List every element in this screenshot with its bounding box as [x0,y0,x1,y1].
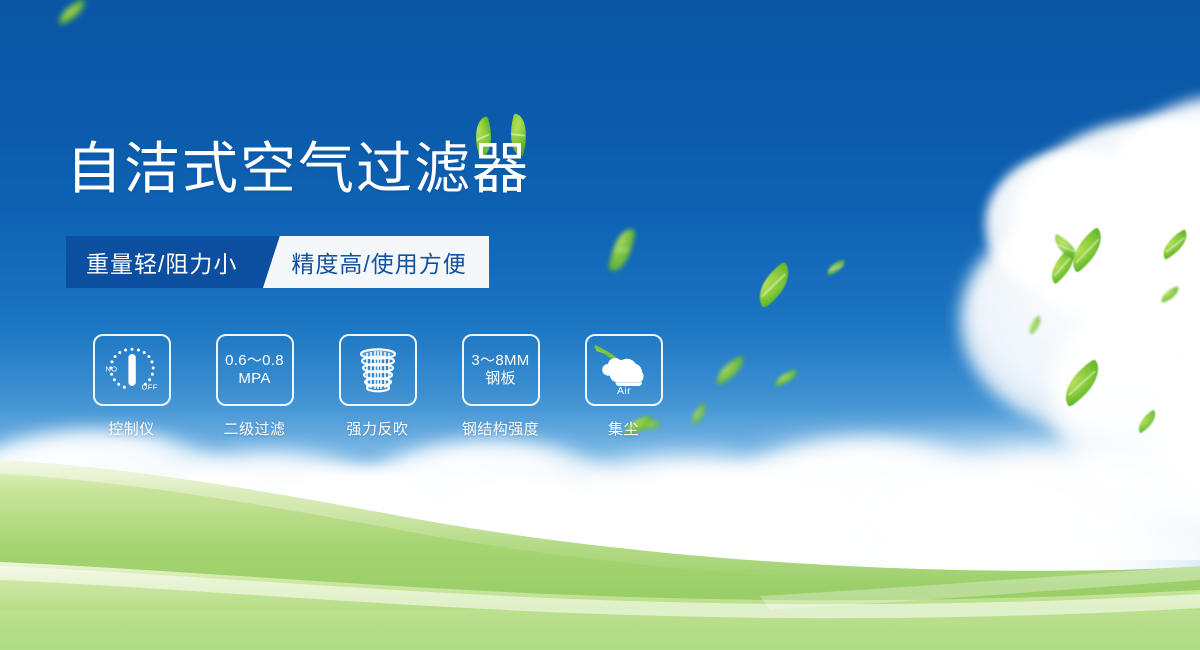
air-cloud-icon: Air [594,344,654,396]
pressure-value-line2: MPA [238,370,270,388]
subtitle-right: 精度高/使用方便 [285,236,488,288]
cloud-shape [985,150,1165,300]
feature-icon-box: Air [585,334,663,406]
feature-icon-box: 3～8MM 钢板 [462,334,540,406]
subtitle-left: 重量轻/阻力小 [66,236,259,288]
feature-caption: 钢结构强度 [462,418,540,439]
steel-thickness-line2: 钢板 [485,370,516,388]
steel-thickness-line1: 3～8MM [471,352,529,370]
feature-caption: 控制仪 [108,418,155,439]
field-bottom-wash [0,610,1200,650]
feature-icon-box: 0.6～0.8 MPA [216,334,294,406]
feature-caption: 集尘 [608,418,639,439]
subtitle-ribbon: 重量轻/阻力小 精度高/使用方便 [66,236,489,288]
pressure-value-line1: 0.6～0.8 [225,352,284,370]
product-hero-banner: 自洁式空气过滤器 重量轻/阻力小 精度高/使用方便 [0,0,1200,650]
page-title: 自洁式空气过滤器 [66,141,530,197]
feature-icon-box: NO OFF [93,334,171,406]
feature-item-steel-structure[interactable]: 3～8MM 钢板 钢结构强度 [439,334,562,439]
svg-text:NO: NO [105,365,117,374]
feature-caption: 二级过滤 [223,418,285,439]
control-dial-icon: NO OFF [103,344,161,396]
feature-icon-box [339,334,417,406]
feature-item-control-instrument[interactable]: NO OFF 控制仪 [70,334,193,439]
ribbon-slant-divider [259,236,285,288]
svg-text:Air: Air [616,385,630,396]
feature-item-strong-backblow[interactable]: 强力反吹 [316,334,439,439]
feature-item-dust-collection[interactable]: Air 集尘 [562,334,685,439]
svg-text:OFF: OFF [141,383,157,392]
filter-cartridge-icon [354,345,402,395]
feature-item-secondary-filtration[interactable]: 0.6～0.8 MPA 二级过滤 [193,334,316,439]
grass-field-svg [0,420,1200,650]
feature-caption: 强力反吹 [346,418,408,439]
grass-field [0,420,1200,650]
feature-list: NO OFF 控制仪 0.6～0.8 MPA 二级过滤 [70,334,685,439]
